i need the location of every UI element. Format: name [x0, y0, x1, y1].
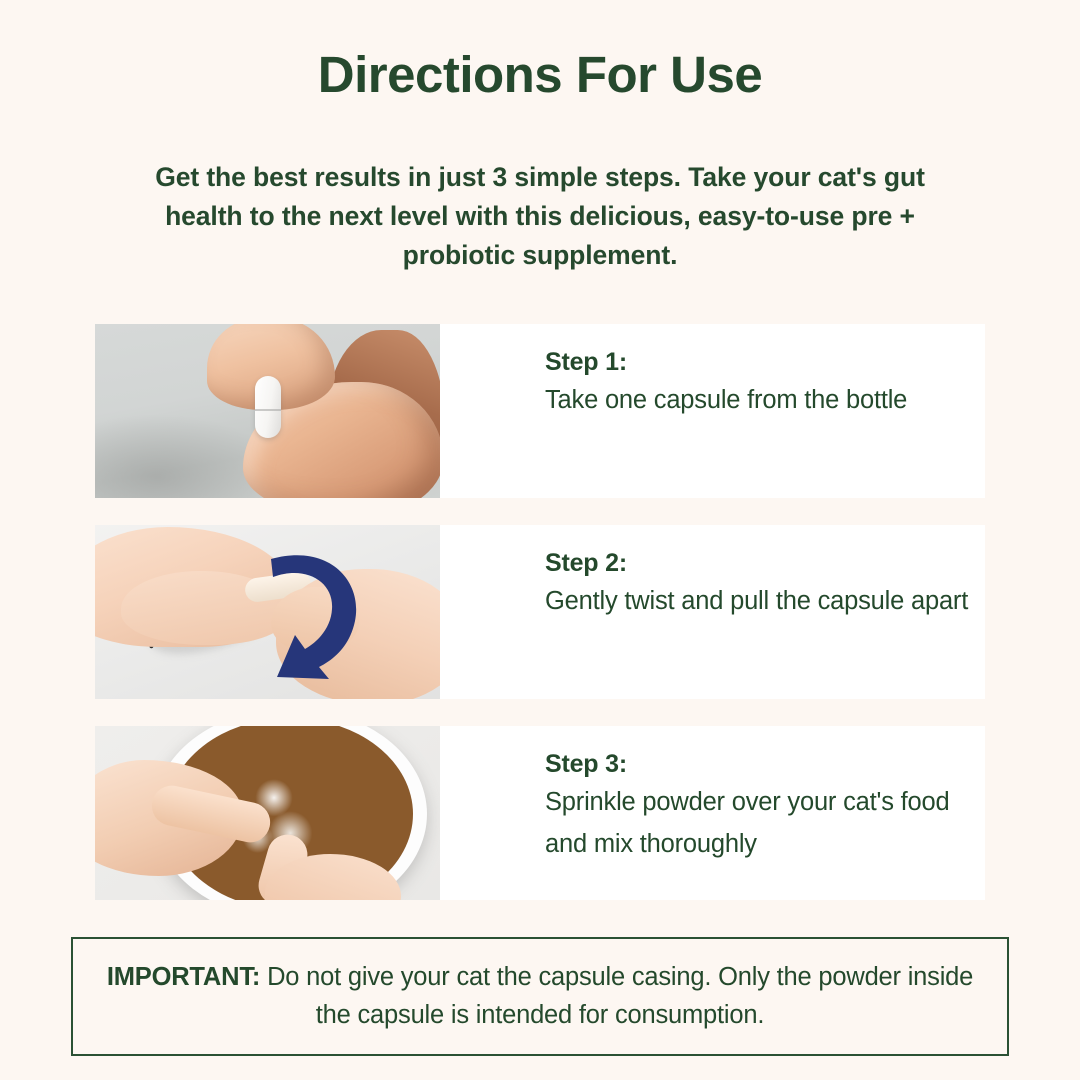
- step-1-label: Step 1:: [545, 344, 985, 380]
- directions-for-use-infographic: Directions For Use Get the best results …: [0, 0, 1080, 1080]
- step-card-2: Step 2: Gently twist and pull the capsul…: [95, 525, 985, 699]
- step-1-text: Step 1: Take one capsule from the bottle: [440, 324, 985, 498]
- step-2-description: Gently twist and pull the capsule apart: [545, 581, 975, 622]
- step-3-image: [95, 726, 440, 900]
- step-1-image: [95, 324, 440, 498]
- important-note-text: IMPORTANT: Do not give your cat the caps…: [99, 959, 981, 1034]
- page-subtitle: Get the best results in just 3 simple st…: [130, 158, 950, 275]
- step-2-image: [95, 525, 440, 699]
- hand-holding-capsule-photo: [95, 324, 440, 498]
- step-card-3: Step 3: Sprinkle powder over your cat's …: [95, 726, 985, 900]
- step-card-1: Step 1: Take one capsule from the bottle: [95, 324, 985, 498]
- steps-list: Step 1: Take one capsule from the bottle: [95, 324, 985, 927]
- page-title: Directions For Use: [0, 46, 1080, 105]
- step-3-label: Step 3:: [545, 746, 985, 782]
- twisting-capsule-photo: [95, 525, 440, 699]
- important-label: IMPORTANT:: [107, 963, 260, 991]
- step-3-text: Step 3: Sprinkle powder over your cat's …: [440, 726, 985, 900]
- important-body: Do not give your cat the capsule casing.…: [260, 963, 973, 1029]
- rotation-arrow-icon: [243, 539, 363, 687]
- step-3-description: Sprinkle powder over your cat's food and…: [545, 782, 975, 865]
- sprinkling-powder-photo: [95, 726, 440, 900]
- important-note-box: IMPORTANT: Do not give your cat the caps…: [71, 937, 1009, 1056]
- step-2-label: Step 2:: [545, 545, 985, 581]
- capsule-icon: [255, 376, 281, 438]
- step-2-text: Step 2: Gently twist and pull the capsul…: [440, 525, 985, 699]
- step-1-description: Take one capsule from the bottle: [545, 380, 975, 421]
